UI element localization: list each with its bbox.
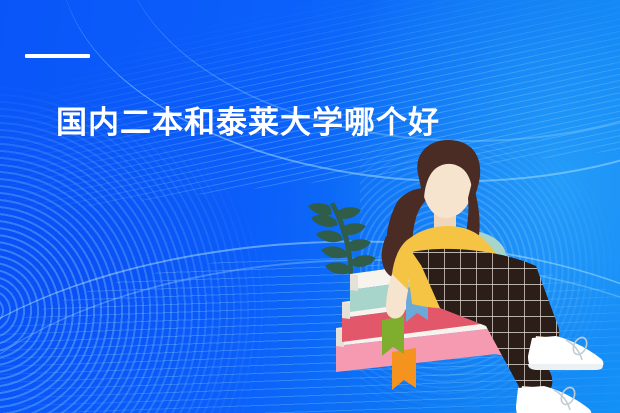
shoe-back (516, 385, 591, 413)
headline-text: 国内二本和泰莱大学哪个好 (56, 104, 440, 141)
banner-image: 国内二本和泰莱大学哪个好 (0, 0, 620, 413)
shoe-front (528, 335, 603, 370)
accent-rule (25, 54, 90, 58)
fern-leaves-icon (308, 202, 376, 274)
bookmark-orange-icon (392, 348, 416, 390)
illustration-woman-on-books (300, 140, 620, 413)
